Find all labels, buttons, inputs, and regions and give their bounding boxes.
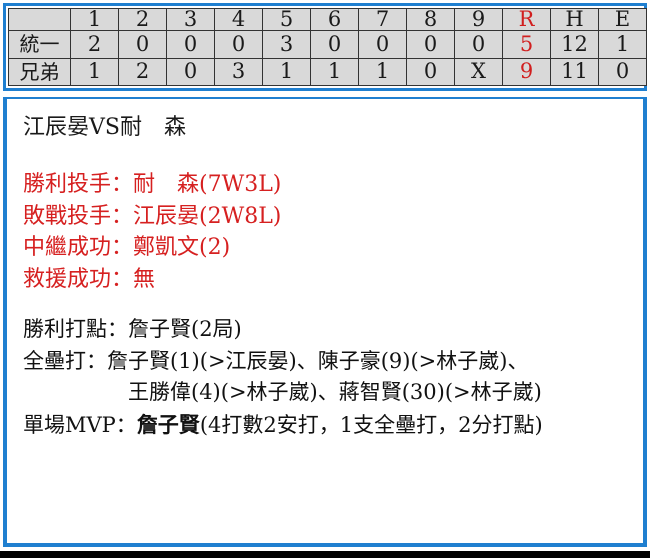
home-run-line-2: 王勝偉(4)(>林子崴)、蔣智賢(30)(>林子崴) <box>23 377 633 409</box>
header-inning-5: 5 <box>263 9 311 31</box>
header-inning-6: 6 <box>311 9 359 31</box>
header-corner <box>9 9 71 31</box>
home-inning-1: 1 <box>71 58 119 86</box>
team-name-away: 統一 <box>9 31 71 59</box>
away-inning-8: 0 <box>407 31 455 59</box>
batting-highlights: 勝利打點：詹子賢(2局) 全壘打：詹子賢(1)(>江辰晏)、陳子豪(9)(>林子… <box>23 314 633 441</box>
home-inning-6: 1 <box>311 58 359 86</box>
home-inning-4: 3 <box>215 58 263 86</box>
home-inning-9: X <box>455 58 503 86</box>
winning-rbi-line: 勝利打點：詹子賢(2局) <box>23 314 633 346</box>
home-inning-7: 1 <box>359 58 407 86</box>
away-inning-9: 0 <box>455 31 503 59</box>
game-detail-panel: 江辰晏VS耐 森 勝利投手：耐 森(7W3L) 敗戰投手：江辰晏(2W8L) 中… <box>3 97 647 547</box>
header-inning-7: 7 <box>359 9 407 31</box>
pitcher-decisions: 勝利投手：耐 森(7W3L) 敗戰投手：江辰晏(2W8L) 中繼成功：鄭凱文(2… <box>23 169 633 297</box>
away-inning-5: 3 <box>263 31 311 59</box>
away-inning-6: 0 <box>311 31 359 59</box>
away-inning-7: 0 <box>359 31 407 59</box>
home-hits: 11 <box>551 58 599 86</box>
mvp-stats: (4打數2安打，1支全壘打，2分打點) <box>200 413 543 437</box>
header-hits: H <box>551 9 599 31</box>
losing-pitcher-line: 敗戰投手：江辰晏(2W8L) <box>23 201 633 233</box>
home-inning-2: 2 <box>119 58 167 86</box>
game-detail-content: 江辰晏VS耐 森 勝利投手：耐 森(7W3L) 敗戰投手：江辰晏(2W8L) 中… <box>7 99 643 543</box>
spacer <box>17 143 633 169</box>
mvp-prefix: 單場MVP： <box>23 413 137 437</box>
away-inning-2: 0 <box>119 31 167 59</box>
hold-pitcher-line: 中繼成功：鄭凱文(2) <box>23 232 633 264</box>
home-inning-8: 0 <box>407 58 455 86</box>
home-run-line-1: 全壘打：詹子賢(1)(>江辰晏)、陳子豪(9)(>林子崴)、 <box>23 346 633 378</box>
away-inning-3: 0 <box>167 31 215 59</box>
header-runs: R <box>503 9 551 31</box>
header-inning-2: 2 <box>119 9 167 31</box>
away-errors: 1 <box>599 31 647 59</box>
linescore-table: 1 2 3 4 5 6 7 8 9 R H E 統一 2 <box>8 8 647 86</box>
away-runs: 5 <box>503 31 551 59</box>
away-inning-1: 2 <box>71 31 119 59</box>
header-inning-8: 8 <box>407 9 455 31</box>
away-hits: 12 <box>551 31 599 59</box>
home-inning-3: 0 <box>167 58 215 86</box>
linescore-frame: 1 2 3 4 5 6 7 8 9 R H E 統一 2 <box>3 3 647 91</box>
header-inning-1: 1 <box>71 9 119 31</box>
team-name-home: 兄弟 <box>9 58 71 86</box>
away-inning-4: 0 <box>215 31 263 59</box>
linescore-header-row: 1 2 3 4 5 6 7 8 9 R H E <box>9 9 647 31</box>
header-inning-3: 3 <box>167 9 215 31</box>
matchup-title: 江辰晏VS耐 森 <box>23 113 633 143</box>
header-errors: E <box>599 9 647 31</box>
winning-pitcher-line: 勝利投手：耐 森(7W3L) <box>23 169 633 201</box>
bottom-black-strip <box>0 551 650 558</box>
header-inning-4: 4 <box>215 9 263 31</box>
table-row: 兄弟 1 2 0 3 1 1 1 0 X 9 11 0 <box>9 58 647 86</box>
home-inning-5: 1 <box>263 58 311 86</box>
home-runs: 9 <box>503 58 551 86</box>
save-pitcher-line: 救援成功：無 <box>23 264 633 296</box>
mvp-player-name: 詹子賢 <box>137 412 200 437</box>
mvp-line: 單場MVP：詹子賢(4打數2安打，1支全壘打，2分打點) <box>23 409 633 442</box>
header-inning-9: 9 <box>455 9 503 31</box>
table-row: 統一 2 0 0 0 3 0 0 0 0 5 12 1 <box>9 31 647 59</box>
home-errors: 0 <box>599 58 647 86</box>
scoreboard-page: 1 2 3 4 5 6 7 8 9 R H E 統一 2 <box>0 0 650 558</box>
